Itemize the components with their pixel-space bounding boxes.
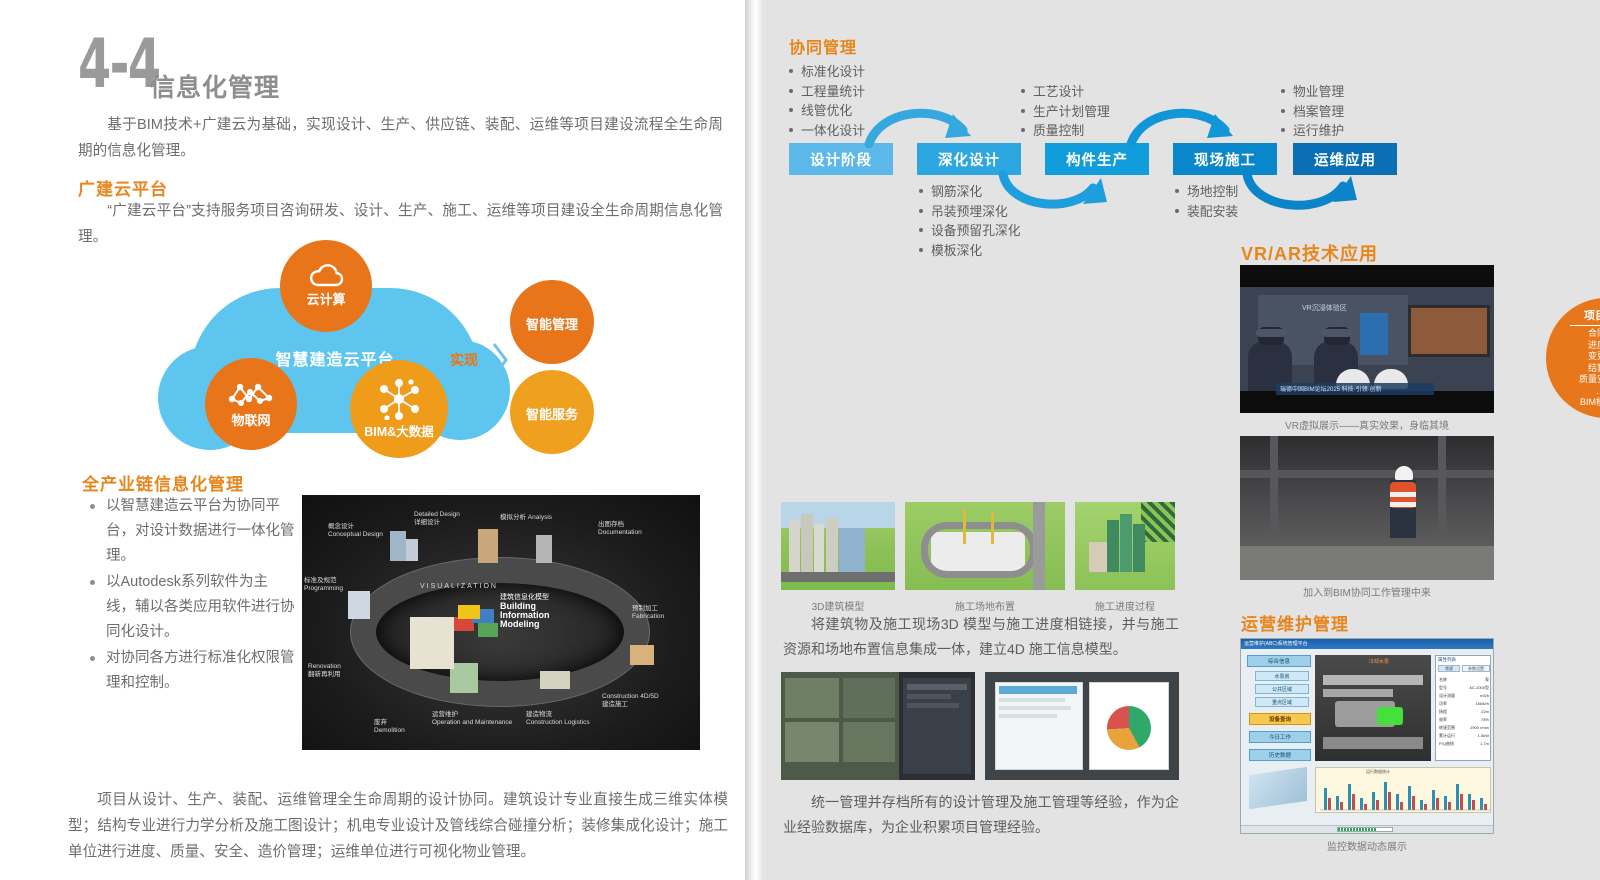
caption-ops: 监控数据动态展示	[1240, 838, 1494, 853]
stage-label: 概念设计 Conceptual Design	[328, 523, 383, 539]
right-page: 协同管理 标准化设计 工程量统计 线管优化 一体化设计 工艺设计 生产计划管理 …	[763, 0, 1600, 880]
ops-panel-tab[interactable]: 参数设置	[1462, 665, 1490, 672]
paragraph-archive: 统一管理并存档所有的设计管理及施工管理等经验，作为企业经验数据库，为企业积累项目…	[783, 790, 1179, 840]
left-page: 4-4 信息化管理 基于BIM技术+广建云为基础，实现设计、生产、供应链、装配、…	[0, 0, 745, 880]
list-item: 以智慧建造云平台为协同平台，对设计数据进行一体化管理。	[90, 494, 295, 569]
screenshot-site-monitor[interactable]	[781, 672, 975, 780]
heading-collab: 协同管理	[789, 34, 857, 58]
thumbnail-caption: 施工场地布置	[905, 598, 1065, 613]
output-smart-service[interactable]: 智能服务	[510, 370, 594, 454]
ops-property-panel[interactable]: 属性列表 常规 参数设置 名称 泵 型号 AC-1000型 设计流量 m3/h …	[1435, 655, 1491, 761]
output-label: 智能服务	[526, 404, 578, 423]
network-icon	[227, 379, 275, 409]
list-item: 装配安装	[1173, 202, 1293, 222]
node-bim-bigdata[interactable]: BIM&大数据	[350, 360, 448, 458]
node-cloud-computing[interactable]: 云计算	[280, 240, 372, 332]
photo-vr-demo[interactable]: VR沉浸体验区 瑞德中国BIM论坛2025 科技·引领·创新	[1240, 265, 1494, 413]
ops-chart: 运行数据统计	[1315, 767, 1491, 813]
ops-statusbar	[1241, 825, 1493, 833]
ops-button[interactable]: 设备查询	[1249, 713, 1311, 725]
heading-vrar: VR/AR技术应用	[1241, 240, 1378, 266]
node-iot[interactable]: 物联网	[205, 358, 297, 450]
list-item: 以Autodesk系列软件为主线，辅以各类应用软件进行协同化设计。	[90, 570, 295, 645]
bim-lifecycle-image: VISUALIZATION 建筑信息化模型 Building Informati…	[302, 495, 700, 750]
node-label: BIM&大数据	[364, 421, 433, 440]
bim-data-flow-diagram: 项目管理 合同管理 进度管理 变更管理 结算管理 质量安全管理 … … BIM模…	[1541, 282, 1600, 487]
vr-banner-text: 瑞德中国BIM论坛2025 科技·引领·创新	[1280, 384, 1382, 393]
cloud-icon	[307, 264, 345, 288]
heading-chain: 全产业链信息化管理	[82, 470, 244, 495]
list-item: 对协同各方进行标准化权限管理和控制。	[90, 646, 295, 696]
thumbnail-site-layout[interactable]	[905, 502, 1065, 590]
paragraph-4d: 将建筑物及施工现场3D 模型与施工进度相链接，并与施工资源和场地布置信息集成一体…	[783, 612, 1179, 662]
stage-label: 建造物流 Construction Logistics	[526, 711, 590, 727]
list-item: 工程量统计	[787, 82, 907, 102]
node-label: 物联网	[231, 410, 270, 429]
section-number: 4-4	[78, 36, 160, 94]
list-item: 吊装预埋深化	[917, 202, 1057, 222]
page-gutter	[745, 0, 763, 880]
cloud-platform-diagram: 智慧建造云平台 云计算 物联网	[150, 240, 620, 470]
lead-paragraph: 基于BIM技术+广建云为基础，实现设计、生产、供应链、装配、运维等项目建设流程全…	[78, 112, 723, 164]
thumbnail-caption: 施工进度过程	[1075, 598, 1175, 613]
caption-vr: VR虚拟展示——真实效果，身临其境	[1240, 417, 1494, 432]
list-item: 工艺设计	[1019, 82, 1149, 102]
stage-label: 模拟分析 Analysis	[500, 511, 552, 521]
flow-below-group-1: 钢筋深化 吊装预埋深化 设备预留孔深化 模板深化	[917, 182, 1057, 260]
screenshot-management-app[interactable]	[985, 672, 1179, 780]
flow-above-group-3: 物业管理 档案管理 运行维护	[1279, 82, 1399, 141]
ops-viewport-label: 冷却水泵	[1369, 658, 1389, 665]
stage-label: 出图存档 Documentation	[598, 521, 642, 537]
list-item: 标准化设计	[787, 62, 907, 82]
photo-site-worker[interactable]	[1240, 436, 1494, 580]
node-label: 云计算	[306, 289, 345, 308]
ring-label: VISUALIZATION	[420, 583, 498, 590]
list-item: 钢筋深化	[917, 182, 1057, 202]
circle-items: 合同管理 进度管理 变更管理 结算管理 质量安全管理 … … BIM模型浏览	[1579, 328, 1600, 409]
thumbnail-caption: 3D建筑模型	[781, 598, 895, 613]
page-title: 信息化管理	[150, 68, 280, 104]
heading-platform: 广建云平台	[78, 175, 168, 200]
chevron-right-icon	[490, 340, 510, 380]
heading-ops: 运营维护管理	[1241, 610, 1349, 635]
closing-paragraph: 项目从设计、生产、装配、运维管理全生命周期的设计协同。建筑设计专业直接生成三维实…	[68, 787, 728, 865]
ops-button[interactable]: 历史数据	[1249, 749, 1311, 761]
stage-label: 运营维护 Operation and Maintenance	[432, 711, 512, 727]
connector-label: 实现	[450, 350, 478, 370]
caption-site: 加入到BIM协同工作管理中来	[1240, 584, 1494, 599]
ops-menu-item[interactable]: 综合信息	[1247, 655, 1311, 667]
output-smart-management[interactable]: 智能管理	[510, 280, 594, 364]
stage-label: Detailed Design 详细设计	[414, 511, 460, 527]
ops-viewport[interactable]: 冷却水泵	[1315, 655, 1431, 761]
ops-menu-item[interactable]: 重点区域	[1255, 697, 1309, 707]
list-item: 档案管理	[1279, 102, 1399, 122]
circle-title: 项目管理	[1570, 307, 1600, 326]
stage-label: Renovation 翻新再利用	[308, 663, 341, 679]
screenshot-ops-platform[interactable]: 运营维护(ABC)系统管理平台 综合信息 水泵房 公共区域 重点区域 设备查询 …	[1240, 638, 1494, 834]
ops-menu-item[interactable]: 水泵房	[1255, 671, 1309, 681]
vr-overlay-text: VR沉浸体验区	[1302, 303, 1347, 313]
ops-panel-tab[interactable]: 常规	[1438, 665, 1460, 672]
thumbnail-progress[interactable]	[1075, 502, 1175, 590]
flow-arrow-3-icon	[1125, 100, 1243, 148]
ops-title: 运营维护(ABC)系统管理平台	[1244, 640, 1308, 647]
stage-label: 废弃 Demolition	[374, 719, 405, 735]
hub-icon	[377, 378, 421, 420]
stage-label: 预制加工 Fabrication	[632, 605, 664, 621]
ops-button[interactable]: 今日工作	[1249, 731, 1311, 743]
flow-below-group-2: 场地控制 装配安装	[1173, 182, 1293, 221]
list-item: 运行维护	[1279, 121, 1399, 141]
flow-arrow-1-icon	[863, 100, 983, 148]
ops-menu-item[interactable]: 公共区域	[1255, 684, 1309, 694]
thumbnail-3d-model[interactable]	[781, 502, 895, 590]
stage-label: Construction 4D/5D 建造施工	[602, 693, 659, 709]
list-item: 场地控制	[1173, 182, 1293, 202]
list-item: 设备预留孔深化	[917, 221, 1057, 241]
lifecycle-center-label: 建筑信息化模型 Building Information Modeling	[500, 593, 550, 629]
output-label: 智能管理	[526, 314, 578, 333]
list-item: 物业管理	[1279, 82, 1399, 102]
list-item: 模板深化	[917, 241, 1057, 261]
ops-panel-rows: 名称 泵 型号 AC-1000型 设计流量 m3/h 功率 15kW/h 扬程 …	[1439, 676, 1489, 748]
chain-bullet-list: 以智慧建造云平台为协同平台，对设计数据进行一体化管理。 以Autodesk系列软…	[90, 494, 295, 697]
ops-panel-title: 属性列表	[1438, 657, 1456, 663]
